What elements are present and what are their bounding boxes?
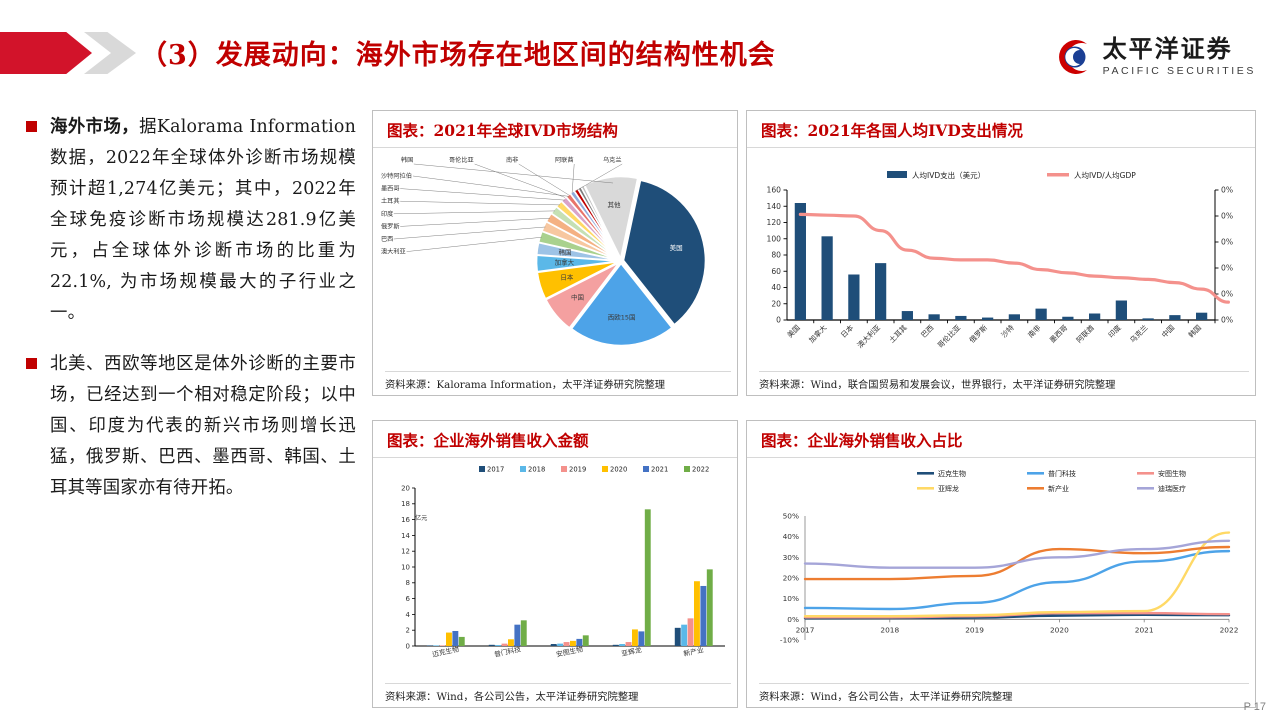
y2-tick-label: 0% [1221, 264, 1233, 273]
bar [929, 314, 940, 320]
bar [1036, 309, 1047, 320]
page-number: P 17 [1244, 701, 1266, 713]
legend-swatch [643, 466, 649, 472]
bar [645, 509, 651, 646]
bar [446, 633, 452, 646]
pie-slice-label: 其他 [608, 200, 622, 209]
pie-external-label: 韩国 [401, 156, 413, 164]
panel-title: 图表：2021年全球IVD市场结构 [373, 111, 737, 148]
svg-text:亿元: 亿元 [415, 514, 427, 522]
legend-swatch [917, 487, 934, 490]
bar [675, 628, 681, 646]
panel-source: 资料来源：Wind，各公司公告，太平洋证券研究院整理 [759, 683, 1249, 703]
pie-external-label: 澳大利亚 [381, 248, 406, 256]
y-tick-label: 20% [783, 574, 799, 583]
list-item: 海外市场，据Kalorama Information数据，2022年全球体外诊断… [26, 112, 356, 329]
bar [495, 645, 501, 646]
bar [795, 203, 806, 320]
bar [681, 625, 687, 646]
y2-tick-label: 0% [1221, 316, 1233, 325]
logo-text-cn: 太平洋证券 [1103, 37, 1256, 61]
y2-tick-label: 0% [1221, 186, 1233, 195]
bar [508, 639, 514, 646]
y-tick-label: 80 [771, 251, 781, 260]
bullet-body: 据Kalorama Information数据，2022年全球体外诊断市场规模预… [50, 117, 356, 323]
y-tick-label: 30% [783, 553, 799, 562]
logo-text-en: PACIFIC SECURITIES [1103, 65, 1256, 77]
legend-label: 2019 [569, 466, 586, 474]
bullet-text: 北美、西欧等地区是体外诊断的主要市场，已经达到一个相对稳定阶段；以中国、印度为代… [50, 349, 356, 504]
bar [564, 642, 570, 646]
y-tick-label: 6 [406, 595, 411, 603]
x-tick-label: 日本 [839, 323, 856, 340]
pie-external-label: 阿联酋 [555, 156, 574, 164]
bar [902, 311, 913, 320]
bar [688, 618, 694, 646]
x-tick-label: 土耳其 [887, 323, 909, 345]
bar [583, 635, 589, 646]
bar [557, 644, 563, 646]
x-tick-label: 加拿大 [807, 323, 829, 345]
bar [502, 644, 508, 646]
bar [521, 620, 527, 646]
legend-swatch [1047, 173, 1069, 177]
pie-external-label: 沙特阿拉伯 [381, 172, 412, 180]
y-tick-label: 16 [401, 516, 410, 524]
list-item: 北美、西欧等地区是体外诊断的主要市场，已经达到一个相对稳定阶段；以中国、印度为代… [26, 349, 356, 504]
legend-swatch [1137, 487, 1154, 490]
y-tick-label: 10 [401, 563, 410, 571]
grouped-bar-chart-svg: 201720182019202020212022 024681012141618… [373, 458, 737, 688]
chart-panel-ivd-per-capita: 图表：2021年各国人均IVD支出情况 人均IVD支出（美元）人均IVD/人均G… [746, 110, 1256, 396]
legend-swatch [520, 466, 526, 472]
chart-panel-overseas-revenue: 图表：企业海外销售收入金额 201720182019202020212022 0… [372, 420, 738, 708]
chart-panel-ivd-structure: 图表：2021年全球IVD市场结构 美国西欧15国中国日本加拿大韩国其他韩国哥伦… [372, 110, 738, 396]
y-tick-label: 160 [767, 186, 782, 195]
legend-swatch [684, 466, 690, 472]
page-title: （3）发展动向：海外市场存在地区间的结构性机会 [140, 33, 1020, 72]
x-tick-label: 乌克兰 [1128, 323, 1150, 345]
y2-tick-label: 0% [1221, 238, 1233, 247]
pie-external-label: 印度 [381, 210, 393, 218]
x-tick-label: 亚辉龙 [621, 645, 643, 658]
bar [700, 586, 706, 646]
legend-swatch [602, 466, 608, 472]
bar [452, 631, 458, 646]
bar [1062, 317, 1073, 320]
panel-source: 资料来源：Wind，联合国贸易和发展会议，世界银行，太平洋证券研究院整理 [759, 371, 1249, 391]
legend-swatch [1027, 487, 1044, 490]
x-tick-label: 中国 [1160, 323, 1177, 340]
x-tick-label: 俄罗斯 [967, 323, 989, 345]
bar [707, 569, 713, 646]
legend-label: 迪瑞医疗 [1158, 484, 1186, 493]
pie-chart-svg: 美国西欧15国中国日本加拿大韩国其他韩国哥伦比亚南非阿联酋乌克兰沙特阿拉伯墨西哥… [373, 148, 737, 368]
y-tick-label: 0% [787, 615, 799, 624]
bar [433, 645, 439, 646]
bar [427, 645, 433, 646]
legend-label: 亚辉龙 [938, 484, 959, 493]
legend-swatch [1027, 472, 1044, 475]
legend-label: 2022 [692, 466, 709, 474]
pie-external-label: 南非 [506, 156, 518, 164]
legend-label: 2017 [487, 466, 504, 474]
x-tick-label: 阿联酋 [1074, 323, 1096, 345]
bar [1169, 315, 1180, 320]
legend-label: 2020 [610, 466, 627, 474]
line-series [805, 541, 1229, 568]
legend-swatch [917, 472, 934, 475]
x-tick-label: 印度 [1106, 323, 1123, 340]
pie-slice-label: 韩国 [558, 248, 571, 257]
x-tick-label: 2018 [880, 625, 899, 634]
slide-header: （3）发展动向：海外市场存在地区间的结构性机会 太平洋证券 PACIFIC SE… [0, 0, 1280, 100]
bullet-lead: 海外市场， [50, 117, 139, 137]
y-tick-label: 50% [783, 512, 799, 521]
x-tick-label: 澳大利亚 [855, 323, 882, 350]
bullet-square-icon [26, 121, 37, 132]
bullet-list: 海外市场，据Kalorama Information数据，2022年全球体外诊断… [26, 112, 356, 524]
y-tick-label: 8 [406, 579, 410, 587]
y-tick-label: 120 [767, 218, 782, 227]
x-tick-label: 2021 [1135, 625, 1154, 634]
pie-external-label: 俄罗斯 [381, 222, 400, 230]
panel-source: 资料来源：Wind，各公司公告，太平洋证券研究院整理 [385, 683, 731, 703]
y-tick-label: 140 [767, 202, 782, 211]
grouped-bar-chart-area: 201720182019202020212022 024681012141618… [373, 458, 737, 693]
bar [551, 644, 557, 646]
x-tick-label: 2017 [796, 625, 815, 634]
bar [848, 275, 859, 321]
bar [1116, 301, 1127, 321]
line-series [805, 533, 1229, 617]
y-tick-label: 18 [401, 500, 410, 508]
bar [955, 316, 966, 320]
bar [982, 318, 993, 320]
y-tick-label: 2 [406, 627, 410, 635]
line-chart-svg: 迈克生物普门科技安图生物亚辉龙新产业迪瑞医疗 -10%0%10%20%30%40… [747, 458, 1255, 690]
bar [1009, 314, 1020, 320]
y-tick-label: 100 [767, 234, 782, 243]
bullet-body: 北美、西欧等地区是体外诊断的主要市场，已经达到一个相对稳定阶段；以中国、印度为代… [50, 354, 356, 498]
bar [440, 645, 446, 646]
y-tick-label: 0 [776, 316, 781, 325]
legend-label: 新产业 [1048, 484, 1069, 493]
bar [875, 263, 886, 320]
pie-external-label: 乌克兰 [603, 156, 622, 164]
bar [1089, 314, 1100, 321]
bar-line-chart-svg: 人均IVD支出（美元）人均IVD/人均GDP 02040608010012014… [747, 148, 1255, 380]
bar [459, 637, 465, 646]
x-tick-label: 美国 [785, 323, 802, 340]
pie-chart-area: 美国西欧15国中国日本加拿大韩国其他韩国哥伦比亚南非阿联酋乌克兰沙特阿拉伯墨西哥… [373, 148, 737, 373]
line-chart-area: 迈克生物普门科技安图生物亚辉龙新产业迪瑞医疗 -10%0%10%20%30%40… [747, 458, 1255, 695]
legend-swatch [887, 171, 907, 178]
legend-label: 人均IVD/人均GDP [1074, 170, 1136, 180]
x-tick-label: 哥伦比亚 [936, 323, 963, 350]
bar [570, 641, 576, 646]
bar [619, 644, 625, 646]
y-tick-label: 4 [406, 611, 411, 619]
legend-swatch [479, 466, 485, 472]
pacific-securities-mark-icon [1054, 37, 1094, 77]
y2-tick-label: 0% [1221, 290, 1233, 299]
y-tick-label: 12 [401, 548, 410, 556]
bar [638, 631, 644, 646]
panel-title: 图表：2021年各国人均IVD支出情况 [747, 111, 1255, 148]
y-tick-label: 0 [406, 642, 410, 650]
x-tick-label: 巴西 [919, 323, 936, 340]
y-tick-label: 10% [783, 594, 799, 603]
x-tick-label: 2022 [1220, 625, 1239, 634]
panel-source: 资料来源：Kalorama Information，太平洋证券研究院整理 [385, 371, 731, 391]
bar [1143, 318, 1154, 320]
y-tick-label: 14 [401, 532, 410, 540]
bar-line-chart-area: 人均IVD支出（美元）人均IVD/人均GDP 02040608010012014… [747, 148, 1255, 385]
bar [822, 236, 833, 320]
pie-slice-label: 西欧15国 [608, 313, 636, 322]
y2-tick-label: 0% [1221, 212, 1233, 221]
bullet-text: 海外市场，据Kalorama Information数据，2022年全球体外诊断… [50, 112, 356, 329]
pie-external-label: 土耳其 [381, 197, 400, 205]
x-tick-label: 2020 [1050, 625, 1069, 634]
bullet-square-icon [26, 358, 37, 369]
y-tick-label: 20 [401, 484, 410, 492]
bar [626, 642, 632, 646]
header-arrow-red-icon [0, 32, 92, 74]
x-tick-label: 墨西哥 [1048, 323, 1070, 345]
company-logo: 太平洋证券 PACIFIC SECURITIES [1054, 34, 1256, 80]
pie-slice-label: 加拿大 [555, 258, 575, 267]
legend-swatch [561, 466, 567, 472]
bar [1196, 313, 1207, 320]
y-tick-label: 40% [783, 532, 799, 541]
x-tick-label: 南非 [1026, 323, 1043, 340]
x-tick-label: 新产业 [683, 645, 705, 658]
pie-external-label: 哥伦比亚 [449, 156, 474, 164]
y-tick-label: -10% [780, 636, 799, 645]
bar [694, 581, 700, 646]
legend-label: 安图生物 [1158, 469, 1186, 478]
bar [613, 645, 619, 646]
legend-label: 2021 [651, 466, 668, 474]
panel-title: 图表：企业海外销售收入占比 [747, 421, 1255, 458]
x-tick-label: 2019 [965, 625, 984, 634]
legend-label: 2018 [528, 466, 545, 474]
legend-label: 人均IVD支出（美元） [912, 170, 985, 180]
legend-label: 普门科技 [1048, 469, 1076, 478]
x-tick-label: 沙特 [999, 323, 1016, 340]
pie-slice-label: 日本 [560, 273, 574, 282]
bar [514, 625, 520, 646]
pie-slice-label: 中国 [571, 292, 584, 301]
pie-external-label: 墨西哥 [381, 186, 400, 193]
bar [632, 629, 638, 646]
chart-panel-overseas-share: 图表：企业海外销售收入占比 迈克生物普门科技安图生物亚辉龙新产业迪瑞医疗 -10… [746, 420, 1256, 708]
y-tick-label: 20 [771, 299, 781, 308]
panel-title: 图表：企业海外销售收入金额 [373, 421, 737, 458]
x-tick-label: 韩国 [1186, 323, 1203, 340]
y-tick-label: 40 [771, 283, 781, 292]
bar [489, 645, 495, 646]
legend-swatch [1137, 472, 1154, 475]
pie-slice-label: 美国 [670, 243, 683, 252]
y-tick-label: 60 [771, 267, 781, 276]
legend-label: 迈克生物 [938, 469, 966, 478]
pie-external-label: 巴西 [381, 236, 393, 243]
